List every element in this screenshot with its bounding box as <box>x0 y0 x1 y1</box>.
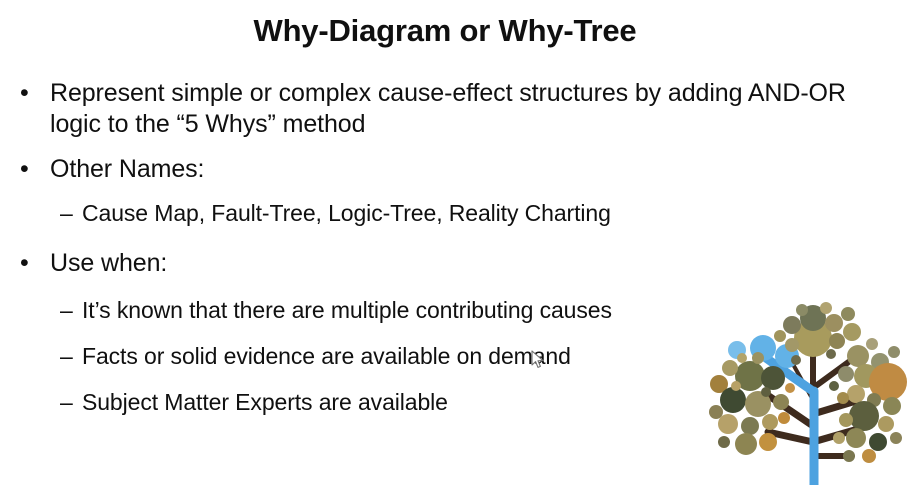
page-title: Why-Diagram or Why-Tree <box>0 12 890 50</box>
bullet-item-represent: • Represent simple or complex cause-effe… <box>0 78 880 140</box>
sub-bullet-item-cause-map: – Cause Map, Fault-Tree, Logic-Tree, Rea… <box>0 199 880 228</box>
spacer <box>0 239 880 248</box>
bullet-item-use-when: • Use when: <box>0 248 880 279</box>
bullet-text: Use when: <box>50 248 880 279</box>
bullet-text: Other Names: <box>50 154 880 185</box>
sub-bullet-text: Cause Map, Fault-Tree, Logic-Tree, Reali… <box>82 199 880 228</box>
bullet-item-other-names: • Other Names: <box>0 154 880 185</box>
bullet-marker-dot: • <box>20 154 29 185</box>
bullet-marker-dot: • <box>20 78 29 109</box>
spacer <box>0 287 880 296</box>
bullet-marker-dash: – <box>60 199 73 228</box>
bullet-marker-dash: – <box>60 342 73 371</box>
bullet-marker-dash: – <box>60 388 73 417</box>
bullet-marker-dot: • <box>20 248 29 279</box>
tree-illustration-icon <box>706 296 907 485</box>
slide-canvas: Why-Diagram or Why-Tree • Represent simp… <box>0 0 907 485</box>
bullet-marker-dash: – <box>60 296 73 325</box>
bullet-text: Represent simple or complex cause-effect… <box>50 78 880 140</box>
mouse-pointer-icon <box>531 350 545 370</box>
